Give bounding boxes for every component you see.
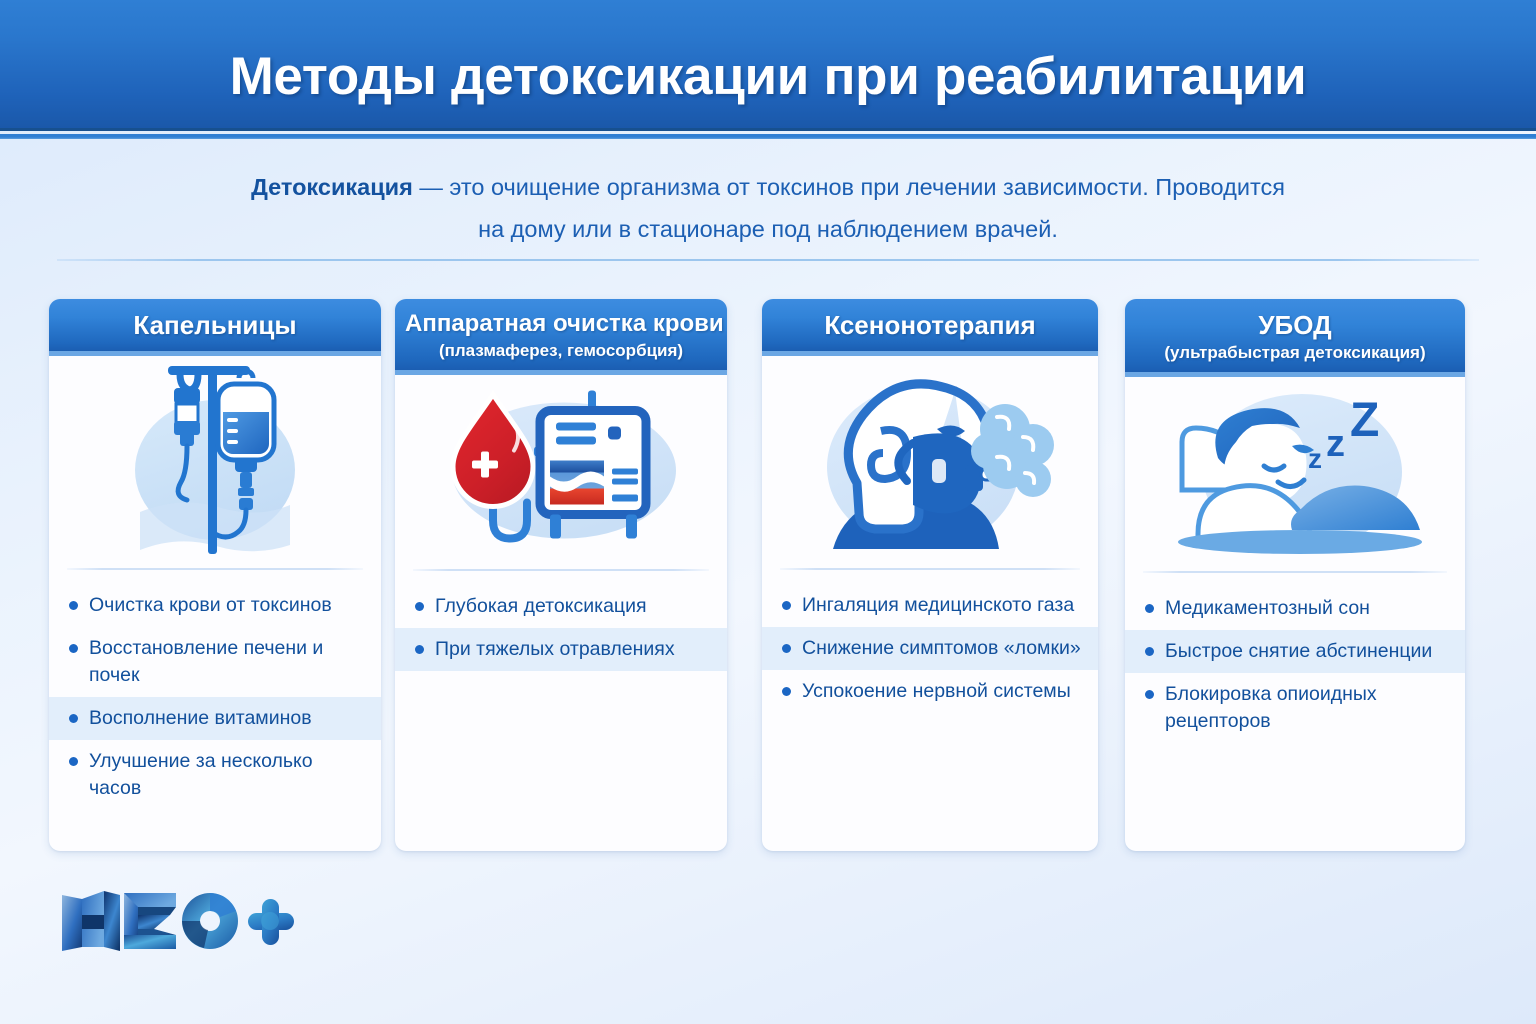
card-title: Капельницы (59, 311, 371, 340)
method-card-ubod[interactable]: УБОД (ультрабыстрая детоксикация) (1125, 299, 1465, 851)
list-item: Медикаментозный сон (1125, 587, 1465, 630)
list-item-label: Блокировка опиоидных рецепторов (1165, 681, 1449, 735)
list-item-label: Восполнение витаминов (89, 705, 365, 732)
list-item: Ингаляция медицинското газа (762, 584, 1098, 627)
bullet-dot-icon (69, 601, 78, 610)
intro-lead-word: Детоксикация (251, 174, 413, 200)
svg-text:Z: Z (1350, 394, 1379, 447)
card-title: Аппаратная очистка крови (405, 311, 717, 338)
bullet-dot-icon (1145, 647, 1154, 656)
card-title: Ксенонотерапия (772, 311, 1088, 340)
card-illustration (49, 356, 381, 568)
method-card-ksenonoterapiya[interactable]: Ксенонотерапия (762, 299, 1098, 851)
bullet-dot-icon (782, 687, 791, 696)
list-item-label: Глубокая детоксикация (435, 593, 711, 620)
page-title: Методы детоксикации при реабилитации (0, 46, 1536, 107)
method-card-apparatnaya-ochistka-krovi[interactable]: Аппаратная очистка крови (плазмаферез, г… (395, 299, 727, 851)
list-item-label: При тяжелых отравлениях (435, 636, 711, 663)
intro-text-line1: — это очищение организма от токсинов при… (413, 174, 1285, 200)
methods-card-grid: Капельницы (49, 299, 1489, 857)
list-item: Восстановление печени и почек (49, 627, 381, 697)
card-header: Капельницы (49, 299, 381, 356)
bullet-dot-icon (69, 644, 78, 653)
list-item-label: Очистка крови от токсинов (89, 592, 365, 619)
svg-text:z: z (1326, 423, 1345, 465)
card-header: УБОД (ультрабыстрая детоксикация) (1125, 299, 1465, 377)
list-item: Восполнение витаминов (49, 697, 381, 740)
list-item-label: Снижение симптомов «ломки» (802, 635, 1082, 662)
list-item: Блокировка опиоидных рецепторов (1125, 673, 1465, 743)
bullet-dot-icon (782, 644, 791, 653)
blood-purification-icon (436, 385, 686, 560)
bullet-dot-icon (1145, 604, 1154, 613)
list-item: При тяжелых отравлениях (395, 628, 727, 671)
list-item-label: Медикаментозный сон (1165, 595, 1449, 622)
card-benefit-list: Ингаляция медицинското газа Снижение сим… (762, 570, 1098, 851)
neo-plus-logo-icon (58, 885, 298, 957)
bullet-dot-icon (69, 757, 78, 766)
iv-drip-icon (120, 362, 310, 562)
list-item-label: Быстрое снятие абстиненции (1165, 638, 1449, 665)
card-benefit-list: Очистка крови от токсинов Восстановление… (49, 570, 381, 851)
card-illustration (395, 375, 727, 569)
list-item-label: Восстановление печени и почек (89, 635, 365, 689)
card-header: Аппаратная очистка крови (плазмаферез, г… (395, 299, 727, 375)
card-header: Ксенонотерапия (762, 299, 1098, 356)
svg-text:z: z (1308, 443, 1322, 474)
bullet-dot-icon (415, 602, 424, 611)
bullet-dot-icon (69, 714, 78, 723)
sleeping-patient-icon: z z Z (1160, 384, 1430, 564)
card-subtitle: (ультрабыстрая детоксикация) (1135, 342, 1455, 363)
card-subtitle: (плазмаферез, гемосорбция) (405, 340, 717, 361)
bullet-dot-icon (1145, 690, 1154, 699)
list-item-label: Ингаляция медицинското газа (802, 592, 1082, 619)
list-item-label: Улучшение за несколько часов (89, 748, 365, 802)
header-accent-underline (0, 134, 1536, 139)
list-item-label: Успокоение нервной системы (802, 678, 1082, 705)
list-item: Быстрое снятие абстиненции (1125, 630, 1465, 673)
card-benefit-list: Глубокая детоксикация При тяжелых отравл… (395, 571, 727, 851)
card-title: УБОД (1135, 311, 1455, 340)
card-benefit-list: Медикаментозный сон Быстрое снятие абсти… (1125, 573, 1465, 851)
card-illustration: z z Z (1125, 377, 1465, 571)
card-illustration (762, 356, 1098, 568)
bullet-dot-icon (415, 645, 424, 654)
intro-text-line2: на дому или в стационаре под наблюдением… (478, 216, 1058, 242)
intro-paragraph: Детоксикация — это очищение организма от… (150, 166, 1386, 250)
bullet-dot-icon (782, 601, 791, 610)
list-item: Очистка крови от токсинов (49, 584, 381, 627)
neo-plus-logo[interactable]: НЕО+ (58, 885, 298, 957)
list-item: Снижение симптомов «ломки» (762, 627, 1098, 670)
method-card-kapelnicy[interactable]: Капельницы (49, 299, 381, 851)
inhalation-mask-icon (805, 367, 1055, 557)
intro-divider (57, 259, 1479, 261)
list-item: Улучшение за несколько часов (49, 740, 381, 810)
list-item: Успокоение нервной системы (762, 670, 1098, 713)
list-item: Глубокая детоксикация (395, 585, 727, 628)
